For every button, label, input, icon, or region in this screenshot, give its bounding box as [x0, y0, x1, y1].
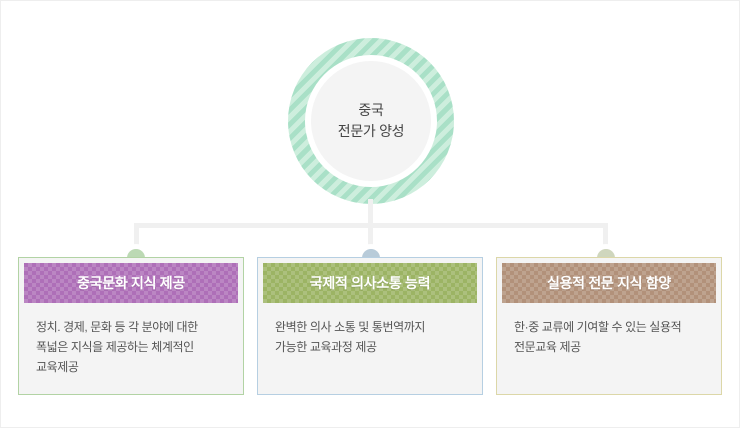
branch-card-2-body: 완벽한 의사 소통 및 통번역까지 가능한 교육과정 제공: [263, 303, 477, 357]
branch-card-3: 실용적 전문 지식 함양 한·중 교류에 기여할 수 있는 실용적 전문교육 제…: [496, 257, 722, 395]
branch-card-1-description: 정치. 경제, 문화 등 각 분야에 대한 폭넓은 지식을 제공하는 체계적인 …: [36, 320, 198, 374]
branch-card-2-header: 국제적 의사소통 능력: [263, 263, 477, 303]
hub-node: 중국 전문가 양성: [288, 38, 454, 204]
branch-card-1-header: 중국문화 지식 제공: [24, 263, 238, 303]
branch-card-1-body: 정치. 경제, 문화 등 각 분야에 대한 폭넓은 지식을 제공하는 체계적인 …: [24, 303, 238, 377]
branch-card-1: 중국문화 지식 제공 정치. 경제, 문화 등 각 분야에 대한 폭넓은 지식을…: [18, 257, 244, 395]
branch-card-3-body: 한·중 교류에 기여할 수 있는 실용적 전문교육 제공: [502, 303, 716, 357]
hub-label: 중국 전문가 양성: [338, 100, 405, 142]
branch-card-2: 국제적 의사소통 능력 완벽한 의사 소통 및 통번역까지 가능한 교육과정 제…: [257, 257, 483, 395]
branch-card-3-header: 실용적 전문 지식 함양: [502, 263, 716, 303]
branch-card-1-title: 중국문화 지식 제공: [77, 273, 185, 293]
org-diagram: 중국 전문가 양성 중국문화 지식 제공 정치. 경제, 문화 등 각 분야에 …: [0, 0, 740, 428]
branch-card-2-description: 완벽한 의사 소통 및 통번역까지 가능한 교육과정 제공: [275, 320, 425, 354]
branch-card-3-description: 한·중 교류에 기여할 수 있는 실용적 전문교육 제공: [514, 320, 681, 354]
branch-card-2-title: 국제적 의사소통 능력: [310, 273, 430, 293]
hub-core: 중국 전문가 양성: [311, 61, 431, 181]
branch-card-3-title: 실용적 전문 지식 함양: [547, 273, 671, 293]
